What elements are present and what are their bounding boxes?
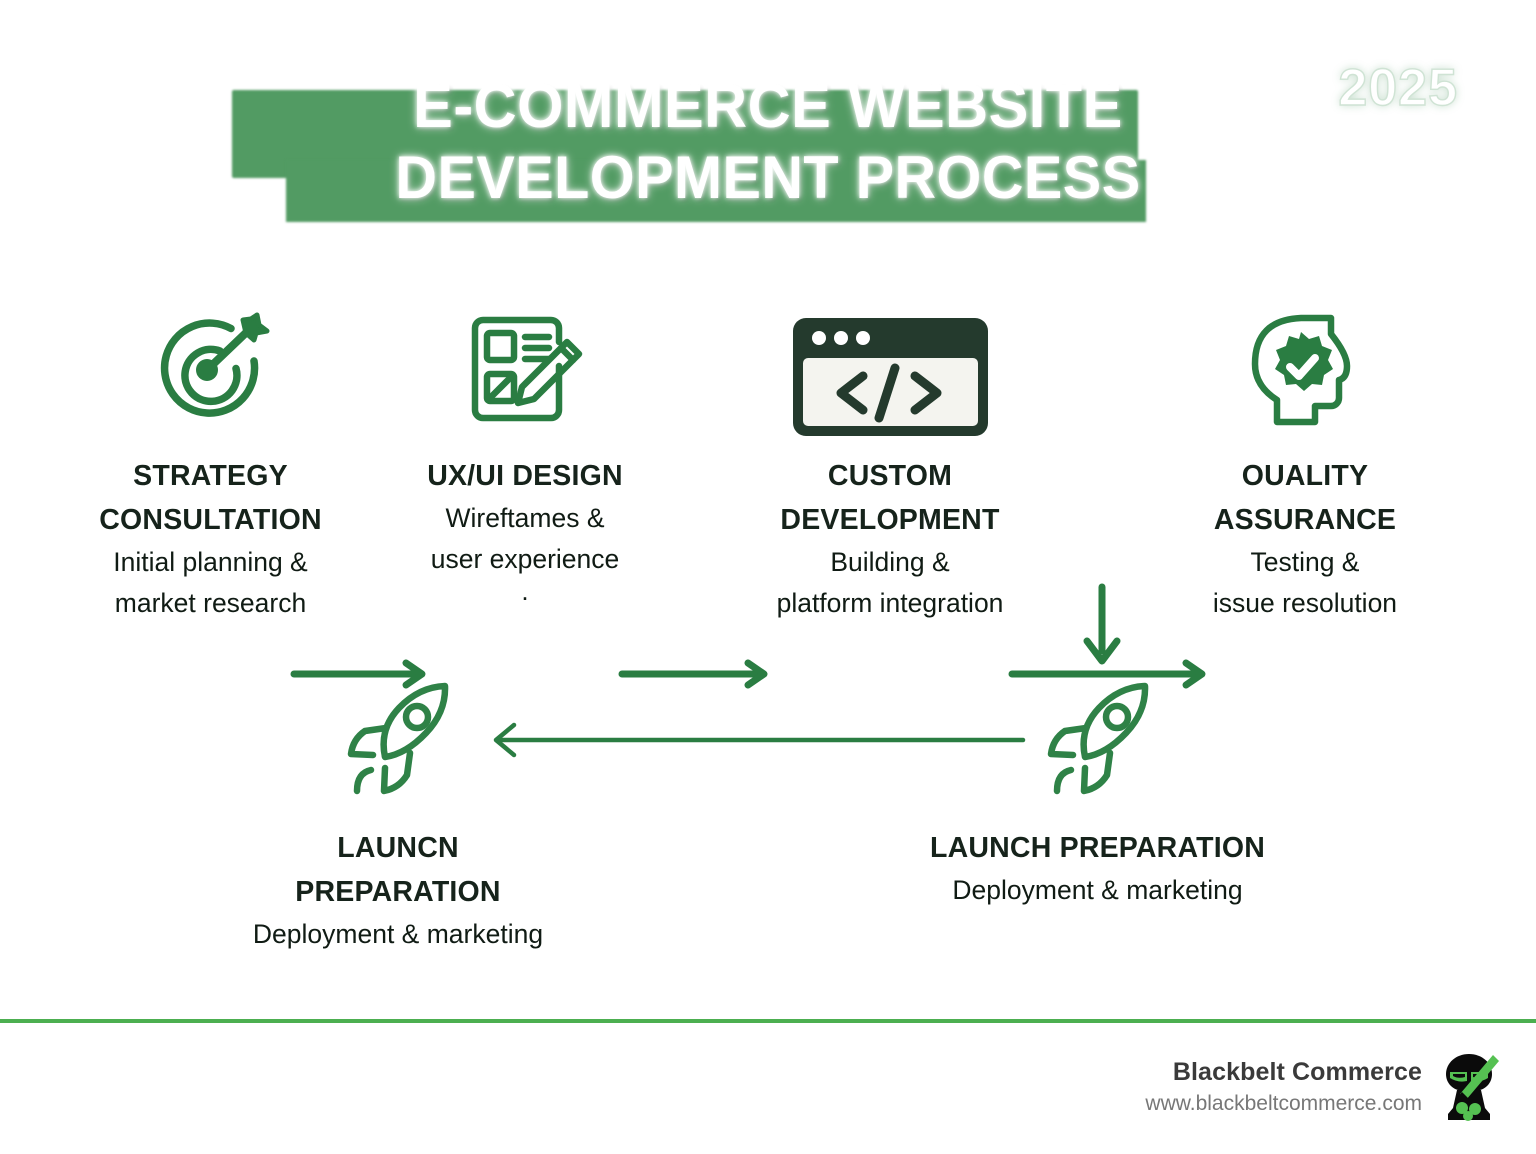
process-row-bottom: LAUNCN PREPARATION Deployment & marketin… — [0, 672, 1536, 1002]
step-title: LAUNCH PREPARATION — [860, 826, 1335, 870]
step-custom-development[interactable]: CUSTOM DEVELOPMENT Building & platform i… — [700, 300, 1080, 624]
step-launch-preparation-right[interactable]: LAUNCH PREPARATION Deployment & marketin… — [860, 672, 1335, 911]
step-title: UX/UI DESIGN — [380, 454, 670, 498]
page-title-line-2: DEVELOPMENT PROCESS — [31, 148, 1506, 208]
step-description: Wireftames & user experience — [380, 498, 670, 580]
process-row-top: STRATEGY CONSULTATION Initial planning &… — [0, 300, 1536, 660]
arrow-down-icon — [1082, 585, 1122, 667]
infographic-canvas: E-COMMERCE WEBSITE DEVELOPMENT PROCESS 2… — [0, 0, 1536, 1154]
brand-name: Blackbelt Commerce — [1145, 1056, 1422, 1089]
step-ux-ui-design[interactable]: UX/UI DESIGN Wireftames & user experienc… — [380, 300, 670, 602]
step-description: Building & platform integration — [700, 542, 1080, 624]
rocket-icon — [198, 672, 598, 812]
ninja-logo-icon — [1436, 1052, 1502, 1122]
rocket-icon — [860, 672, 1335, 812]
stray-period-mark: . — [380, 580, 670, 602]
step-quality-assurance[interactable]: OUALITY ASSURANCE Testing & issue resolu… — [1110, 300, 1500, 624]
step-description: Testing & issue resolution — [1110, 542, 1500, 624]
step-title: STRATEGY CONSULTATION — [38, 454, 383, 542]
step-title: LAUNCN PREPARATION — [198, 826, 598, 914]
step-strategy-consultation[interactable]: STRATEGY CONSULTATION Initial planning &… — [38, 300, 383, 624]
step-title: OUALITY ASSURANCE — [1110, 454, 1500, 542]
step-title: CUSTOM DEVELOPMENT — [700, 454, 1080, 542]
step-description: Deployment & marketing — [860, 870, 1335, 911]
code-window-icon — [700, 300, 1080, 440]
step-description: Initial planning & market research — [38, 542, 383, 624]
target-arrow-icon — [38, 300, 383, 440]
footer-text: Blackbelt Commerce www.blackbeltcommerce… — [1145, 1056, 1422, 1119]
verified-head-icon — [1110, 300, 1500, 440]
title-block: E-COMMERCE WEBSITE DEVELOPMENT PROCESS — [0, 38, 1536, 198]
step-launch-preparation-left[interactable]: LAUNCN PREPARATION Deployment & marketin… — [198, 672, 598, 955]
brand-url[interactable]: www.blackbeltcommerce.com — [1145, 1089, 1422, 1119]
footer: Blackbelt Commerce www.blackbeltcommerce… — [1145, 1052, 1502, 1122]
year-label: 2025 — [1338, 58, 1458, 118]
step-description: Deployment & marketing — [198, 914, 598, 955]
footer-divider — [0, 1019, 1536, 1023]
page-title-line-1: E-COMMERCE WEBSITE — [31, 76, 1506, 138]
clipboard-pencil-icon — [380, 300, 670, 440]
